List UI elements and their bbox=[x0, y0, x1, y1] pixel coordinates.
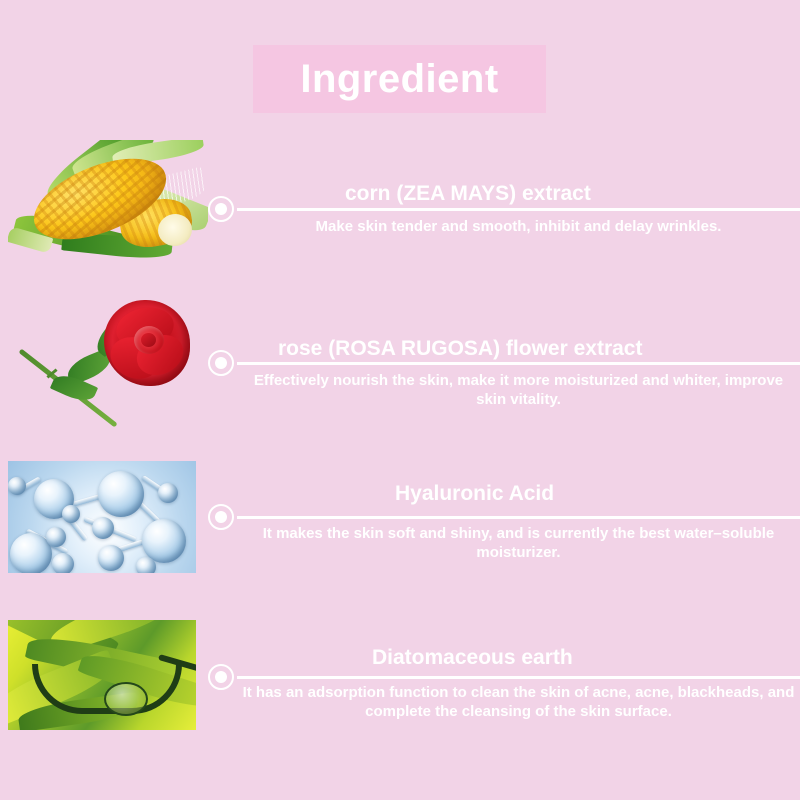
rose-core-inner-icon bbox=[141, 333, 156, 347]
ingredient-infographic: Ingredient corn (ZEA MAYS) extract Make … bbox=[0, 0, 800, 800]
molecule-atom bbox=[8, 477, 26, 495]
bullet-marker-corn bbox=[208, 196, 234, 222]
ingredient-description-rose: Effectively nourish the skin, make it mo… bbox=[237, 371, 800, 409]
divider-line-diatomaceous-earth bbox=[237, 676, 800, 679]
molecule-atom bbox=[98, 471, 144, 517]
ingredient-name-corn: corn (ZEA MAYS) extract bbox=[345, 182, 591, 206]
diatomaceous-earth-image bbox=[8, 620, 196, 730]
rose-image bbox=[8, 292, 208, 430]
bullet-marker-diatomaceous-earth bbox=[208, 664, 234, 690]
divider-line-corn bbox=[237, 208, 800, 211]
ingredient-description-hyaluronic-acid: It makes the skin soft and shiny, and is… bbox=[237, 524, 800, 562]
molecule-atom bbox=[46, 527, 66, 547]
molecule-atom bbox=[52, 553, 74, 573]
molecule-atom bbox=[62, 505, 80, 523]
divider-line-rose bbox=[237, 362, 800, 365]
molecule-atom bbox=[158, 483, 178, 503]
page-title: Ingredient bbox=[253, 45, 546, 113]
molecule-atom bbox=[92, 517, 114, 539]
bullet-marker-rose bbox=[208, 350, 234, 376]
molecule-atom bbox=[98, 545, 124, 571]
ingredient-description-corn: Make skin tender and smooth, inhibit and… bbox=[237, 217, 800, 236]
ingredient-name-hyaluronic-acid: Hyaluronic Acid bbox=[395, 482, 554, 506]
hyaluronic-acid-image bbox=[8, 461, 196, 573]
ingredient-name-diatomaceous-earth: Diatomaceous earth bbox=[372, 646, 573, 670]
divider-line-hyaluronic-acid bbox=[237, 516, 800, 519]
corn-image bbox=[8, 140, 208, 270]
ingredient-name-rose: rose (ROSA RUGOSA) flower extract bbox=[278, 337, 642, 361]
aloe-droplet bbox=[104, 682, 148, 716]
molecule-atom bbox=[136, 557, 156, 573]
ingredient-description-diatomaceous-earth: It has an adsorption function to clean t… bbox=[237, 683, 800, 721]
title-banner: Ingredient bbox=[253, 45, 546, 113]
bullet-marker-hyaluronic-acid bbox=[208, 504, 234, 530]
